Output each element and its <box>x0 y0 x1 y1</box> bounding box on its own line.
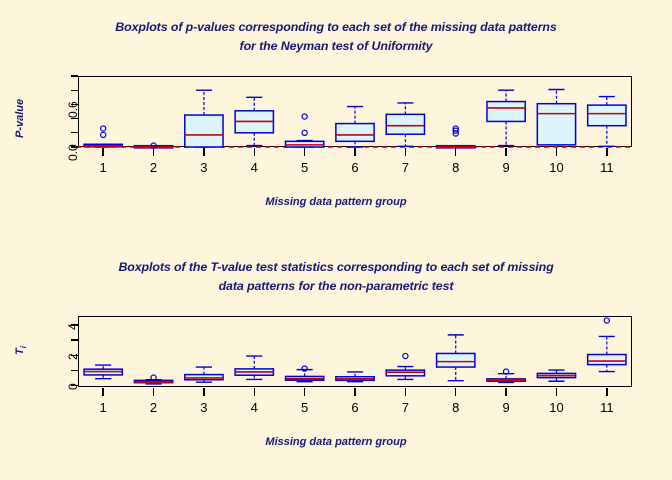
y-tick-label: 0.0 <box>66 144 80 161</box>
box-iqr <box>588 355 626 365</box>
x-tick-mark <box>254 148 255 156</box>
x-tick-mark <box>606 148 607 156</box>
boxplot-box <box>437 126 475 148</box>
x-tick-label: 8 <box>436 160 476 175</box>
box-iqr <box>437 353 475 367</box>
x-tick-mark <box>354 388 355 396</box>
x-tick-mark <box>606 388 607 396</box>
box-iqr <box>487 102 525 122</box>
x-tick-label: 8 <box>436 400 476 415</box>
boxplot-box <box>285 114 323 147</box>
y-tick-mark <box>71 339 78 340</box>
x-tick-label: 5 <box>285 160 325 175</box>
x-tick-label: 6 <box>335 160 375 175</box>
x-tick-label: 4 <box>234 400 274 415</box>
outlier-point <box>101 126 106 131</box>
x-tick-label: 10 <box>536 160 576 175</box>
x-tick-mark <box>405 148 406 156</box>
boxplot-box <box>185 90 223 147</box>
boxplot-box <box>386 103 424 146</box>
y-tick-label: 0 <box>66 384 80 391</box>
x-tick-label: 2 <box>134 160 174 175</box>
boxplot-box <box>537 89 575 144</box>
x-tick-mark <box>505 388 506 396</box>
panel-nonparametric-tvalue: Boxplots of the T-value test statistics … <box>0 240 672 480</box>
y-tick-mark <box>71 90 78 91</box>
boxplot-box <box>285 366 323 382</box>
x-tick-mark <box>455 148 456 156</box>
x-tick-label: 3 <box>184 160 224 175</box>
x-tick-mark <box>455 388 456 396</box>
x-tick-mark <box>153 388 154 396</box>
boxplot-box <box>84 126 122 147</box>
outlier-point <box>302 114 307 119</box>
box-iqr <box>336 124 374 142</box>
y-tick-mark <box>71 118 78 119</box>
x-tick-mark <box>556 148 557 156</box>
outlier-point <box>403 353 408 358</box>
box-iqr <box>386 114 424 134</box>
x-axis-title-bottom: Missing data pattern group <box>0 436 672 448</box>
x-axis-title-bottom-text: Missing data pattern group <box>265 436 406 448</box>
boxplot-box <box>588 97 626 147</box>
box-iqr <box>185 115 223 147</box>
x-tick-mark <box>254 388 255 396</box>
x-tick-mark <box>354 148 355 156</box>
x-tick-label: 7 <box>385 160 425 175</box>
boxplot-box <box>185 367 223 382</box>
x-tick-mark <box>304 148 305 156</box>
y-tick-label: 0.6 <box>66 102 80 119</box>
boxplot-box <box>336 372 374 382</box>
boxplot-box <box>437 335 475 381</box>
x-tick-label: 4 <box>234 160 274 175</box>
x-tick-mark <box>405 388 406 396</box>
x-tick-mark <box>304 388 305 396</box>
boxplot-box <box>134 375 172 384</box>
x-axis-title-top-text: Missing data pattern group <box>265 196 406 208</box>
panel-neyman-pvalue: Boxplots of p-values corresponding to ea… <box>0 0 672 240</box>
outlier-point <box>604 318 609 323</box>
x-tick-mark <box>102 148 103 156</box>
x-tick-mark <box>556 388 557 396</box>
x-tick-label: 1 <box>83 400 123 415</box>
x-tick-label: 9 <box>486 160 526 175</box>
x-tick-mark <box>153 148 154 156</box>
y-tick-mark <box>71 75 78 76</box>
x-tick-label: 11 <box>587 400 627 415</box>
x-tick-label: 2 <box>134 400 174 415</box>
x-tick-mark <box>203 388 204 396</box>
boxplot-box <box>537 370 575 381</box>
box-iqr <box>537 104 575 145</box>
x-tick-label: 1 <box>83 160 123 175</box>
boxplot-box <box>487 90 525 145</box>
box-iqr <box>588 105 626 126</box>
x-tick-label: 9 <box>486 400 526 415</box>
x-tick-label: 5 <box>285 400 325 415</box>
x-axis-title-top: Missing data pattern group <box>0 196 672 208</box>
y-tick-mark <box>71 132 78 133</box>
x-tick-label: 11 <box>587 160 627 175</box>
x-tick-label: 6 <box>335 400 375 415</box>
boxplot-box <box>588 318 626 372</box>
x-tick-mark <box>102 388 103 396</box>
boxplot-box <box>235 97 273 145</box>
y-tick-mark <box>71 370 78 371</box>
boxplot-box <box>487 369 525 382</box>
boxplot-box <box>84 365 122 379</box>
x-tick-label: 10 <box>536 400 576 415</box>
boxplot-box <box>235 356 273 379</box>
boxplot-box <box>336 107 374 147</box>
boxplot-box <box>386 353 424 379</box>
x-tick-label: 3 <box>184 400 224 415</box>
x-tick-mark <box>203 148 204 156</box>
y-tick-label: 4 <box>66 323 80 330</box>
x-tick-mark <box>505 148 506 156</box>
outlier-point <box>101 132 106 137</box>
outlier-point <box>302 130 307 135</box>
x-tick-label: 7 <box>385 400 425 415</box>
y-tick-label: 2 <box>66 354 80 361</box>
